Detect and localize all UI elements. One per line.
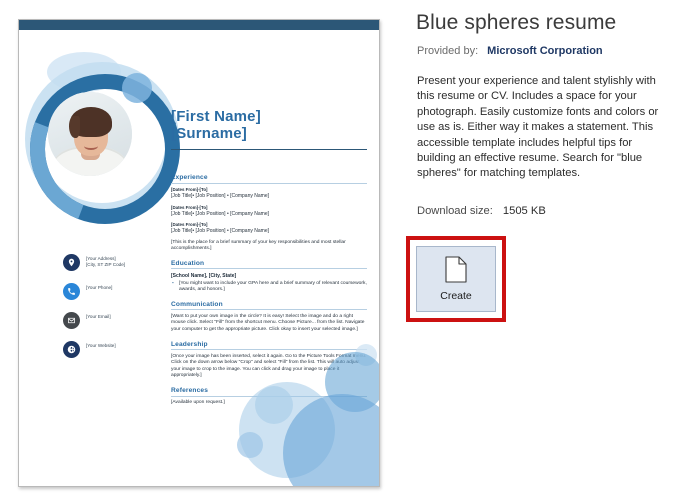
resume-document-canvas: [First Name] [Surname] [Your Address] [C…: [19, 30, 379, 486]
education-bullet: [You might want to include your GPA here…: [171, 281, 367, 294]
download-size-row: Download size:1505 KB: [417, 205, 546, 217]
job-title-line: [Job Title]• [Job Position] • [Company N…: [171, 193, 367, 200]
name-divider: [171, 149, 367, 150]
contact-phone-text: [Your Phone]: [86, 283, 112, 291]
photo-hair-side: [69, 116, 80, 138]
template-details-pane: Blue spheres resume Provided by:Microsof…: [416, 0, 684, 500]
contact-item-phone: [Your Phone]: [63, 283, 159, 300]
template-description: Present your experience and talent styli…: [417, 74, 667, 182]
phone-icon: [63, 283, 80, 300]
location-pin-icon: [63, 254, 80, 271]
contact-item-website: [Your Website]: [63, 341, 159, 358]
job-title-line: [Job Title]• [Job Position] • [Company N…: [171, 228, 367, 235]
photo-smile: [84, 142, 98, 150]
surname-placeholder: [Surname]: [171, 125, 367, 142]
profile-photo: [48, 92, 132, 176]
photo-eye-right: [96, 130, 100, 133]
download-size-label: Download size:: [417, 205, 493, 217]
contact-item-email: [Your Email]: [63, 312, 159, 329]
contact-list: [Your Address] [City, ST ZIP Code] [Your…: [63, 254, 159, 370]
contact-address-text: [Your Address] [City, ST ZIP Code]: [86, 254, 125, 268]
section-heading-leadership: Leadership: [171, 341, 367, 351]
email-icon: [63, 312, 80, 329]
section-heading-communication: Communication: [171, 301, 367, 311]
download-size-value: 1505 KB: [503, 205, 546, 217]
school-name: [School Name], [City, State]: [171, 273, 367, 280]
communication-text: [Want to put your own image in the circl…: [171, 314, 367, 334]
website-icon: [63, 341, 80, 358]
experience-entry: [Dates From]-[To] [Job Title]• [Job Posi…: [171, 187, 367, 200]
create-button-label: Create: [440, 290, 472, 302]
document-icon: [445, 256, 467, 283]
resume-name-block: [First Name] [Surname]: [171, 108, 367, 150]
contact-item-address: [Your Address] [City, ST ZIP Code]: [63, 254, 159, 271]
photo-eye-left: [81, 130, 85, 133]
experience-summary: [This is the place for a brief summary o…: [171, 240, 367, 253]
first-name-placeholder: [First Name]: [171, 108, 367, 125]
provider-name: Microsoft Corporation: [487, 45, 603, 57]
section-heading-education: Education: [171, 260, 367, 270]
contact-website-text: [Your Website]: [86, 341, 116, 349]
template-preview-pane[interactable]: [First Name] [Surname] [Your Address] [C…: [18, 19, 380, 487]
provided-by-label: Provided by:: [417, 45, 478, 57]
contact-email-text: [Your Email]: [86, 312, 111, 320]
create-button-highlight: Create: [406, 236, 506, 322]
experience-entry: [Dates From]-[To] [Job Title]• [Job Posi…: [171, 222, 367, 235]
provided-by-row: Provided by:Microsoft Corporation: [417, 45, 603, 57]
experience-entry: [Dates From]-[To] [Job Title]• [Job Posi…: [171, 205, 367, 218]
job-title-line: [Job Title]• [Job Position] • [Company N…: [171, 211, 367, 218]
create-button[interactable]: Create: [416, 246, 496, 312]
section-heading-experience: Experience: [171, 174, 367, 184]
page-title: Blue spheres resume: [416, 11, 616, 35]
